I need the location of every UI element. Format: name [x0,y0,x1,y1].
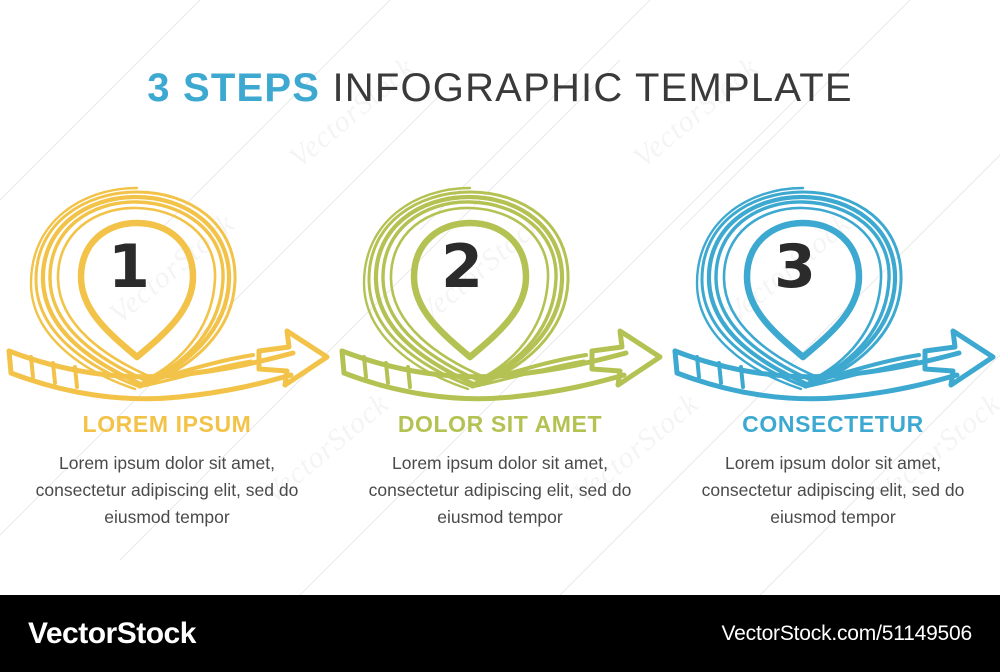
step-2-heading: DOLOR SIT AMET [398,411,602,438]
step-1-graphic: 1 [1,175,334,395]
step-3-number: 3 [629,237,962,297]
step-3-description: Lorem ipsum dolor sit amet, consectetur … [688,450,978,531]
page-title-accent: 3 STEPS [147,66,320,110]
step-2-graphic: 2 [334,175,667,395]
infographic-canvas: VectorStock VectorStock VectorStock Vect… [0,0,1000,595]
step-3-graphic: 3 [667,175,1000,395]
step-2-number: 2 [296,237,629,297]
step-item-3[interactable]: 3 CONSECTETUR Lorem ipsum dolor sit amet… [667,175,1000,531]
step-1-description: Lorem ipsum dolor sit amet, consectetur … [22,450,312,531]
steps-container: 1 LOREM IPSUM Lorem ipsum dolor sit amet… [0,175,1000,531]
step-1-number: 1 [0,237,296,297]
step-item-2[interactable]: 2 DOLOR SIT AMET Lorem ipsum dolor sit a… [334,175,667,531]
footer-bar: VectorStock VectorStock.com/51149506 [0,595,1000,672]
step-3-heading: CONSECTETUR [742,411,924,438]
footer-brand-logo: VectorStock [28,617,196,651]
step-item-1[interactable]: 1 LOREM IPSUM Lorem ipsum dolor sit amet… [1,175,334,531]
page-title-rest: INFOGRAPHIC TEMPLATE [332,66,852,110]
page-title: 3 STEPS INFOGRAPHIC TEMPLATE [0,66,1000,111]
step-2-description: Lorem ipsum dolor sit amet, consectetur … [355,450,645,531]
footer-url: VectorStock.com/51149506 [722,622,972,646]
step-1-heading: LOREM IPSUM [83,411,252,438]
